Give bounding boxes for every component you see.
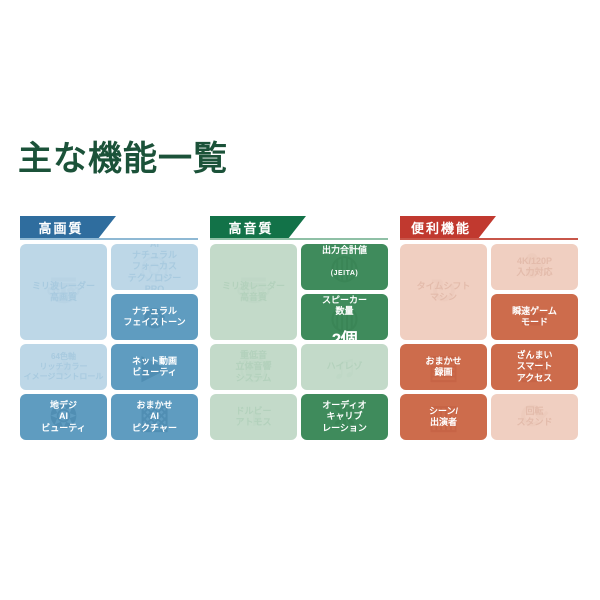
feature-row: ◑ ドルビー アトモス ❋ オーディオ キャリブ レーション (210, 394, 388, 440)
feature-cell-net-video-beauty[interactable]: ▶ ネット動画 ビューティ (111, 344, 198, 390)
feature-cell-group-left: ↻ タイムシフト マシン (400, 244, 487, 340)
feature-grid: 高画質 〠 ミリ波レーダー 高画質 ◎ AI ナチュラル フォーカス テクノロジ… (20, 216, 580, 444)
feature-cell-natural-facetone[interactable]: ☻ ナチュラル フェイストーン (111, 294, 198, 340)
speaker-count-label: スピーカー 数量 (322, 295, 367, 316)
column-header-convenience: 便利機能 (400, 216, 578, 240)
category-column-convenience: 便利機能 ↻ タイムシフト マシン ❥ 4K/120P 入力対応 ▰ 瞬速ゲーム… (400, 216, 578, 444)
category-rule (400, 238, 578, 240)
category-rule (20, 238, 198, 240)
feature-cell-group-right: ♫ ハイレゾ (301, 344, 388, 390)
category-column-sound-quality: 高音質 〠 ミリ波レーダー 高音質 ◍ 実用最大 出力合計値 (JEITA) 2… (210, 216, 388, 444)
feature-cell-group-left: ❂ 地デジ AI ビューティ (20, 394, 107, 440)
feature-cell-group-left: ▤ おまかせ 録画 (400, 344, 487, 390)
feature-cell-millimeter-wave-radar-sound[interactable]: 〠 ミリ波レーダー 高音質 (210, 244, 297, 340)
column-header-picture-quality: 高画質 (20, 216, 198, 240)
feature-cell-group-right: ❥ 4K/120P 入力対応 ▰ 瞬速ゲーム モード (491, 244, 578, 340)
feature-cell-64-axis-rich-color[interactable]: ◕ 64色軸 リッチカラー イメージコントロール (20, 344, 107, 390)
feature-cell-digital-terrestrial-ai-beauty[interactable]: ❂ 地デジ AI ビューティ (20, 394, 107, 440)
feature-row: ◉ 重低音 立体音響 システム ♫ ハイレゾ (210, 344, 388, 390)
feature-cell-millimeter-wave-radar-picture[interactable]: 〠 ミリ波レーダー 高画質 (20, 244, 107, 340)
feature-cell-zanmai-smart-access[interactable]: ▦ ざんまい スマート アクセス (491, 344, 578, 390)
feature-cell-instant-game-mode[interactable]: ▰ 瞬速ゲーム モード (491, 294, 578, 340)
feature-row: ▥ シーン/ 出演者 ⟳ 回転 スタンド (400, 394, 578, 440)
category-tab-sound-quality[interactable]: 高音質 (210, 216, 306, 238)
feature-cell-group-left: 〠 ミリ波レーダー 高画質 (20, 244, 107, 340)
feature-cell-group-right: ◍ 実用最大 出力合計値 (JEITA) 20W ◍ スピーカー 数量 2個 (301, 244, 388, 340)
feature-cell-scene-cast[interactable]: ▥ シーン/ 出演者 (400, 394, 487, 440)
feature-cell-group-right: ▶ ネット動画 ビューティ (111, 344, 198, 390)
feature-cell-deep-bass-3d-sound-system[interactable]: ◉ 重低音 立体音響 システム (210, 344, 297, 390)
feature-cell-group-right: ❋ オーディオ キャリブ レーション (301, 394, 388, 440)
feature-row: 〠 ミリ波レーダー 高画質 ◎ AI ナチュラル フォーカス テクノロジー PR… (20, 244, 198, 340)
feature-cell-group-left: ◕ 64色軸 リッチカラー イメージコントロール (20, 344, 107, 390)
feature-cell-4k-120p-input[interactable]: ❥ 4K/120P 入力対応 (491, 244, 578, 290)
feature-cell-group-left: ◑ ドルビー アトモス (210, 394, 297, 440)
category-tab-picture-quality[interactable]: 高画質 (20, 216, 116, 238)
feature-cell-group-left: ▥ シーン/ 出演者 (400, 394, 487, 440)
column-header-sound-quality: 高音質 (210, 216, 388, 240)
feature-cell-dolby-atmos[interactable]: ◑ ドルビー アトモス (210, 394, 297, 440)
feature-row: ❂ 地デジ AI ビューティ ▩ おまかせ AI ピクチャー (20, 394, 198, 440)
feature-cell-audio-calibration[interactable]: ❋ オーディオ キャリブ レーション (301, 394, 388, 440)
page-title: 主な機能一覧 (18, 142, 228, 176)
max-output-standard: (JEITA) (331, 270, 358, 277)
category-rule (210, 238, 388, 240)
max-output-label: 実用最大 出力合計値 (322, 244, 367, 255)
feature-row: ↻ タイムシフト マシン ❥ 4K/120P 入力対応 ▰ 瞬速ゲーム モード (400, 244, 578, 340)
feature-cell-group-right: ▩ おまかせ AI ピクチャー (111, 394, 198, 440)
feature-cell-ai-natural-focus-pro[interactable]: ◎ AI ナチュラル フォーカス テクノロジー PRO (111, 244, 198, 290)
feature-cell-group-left: ◉ 重低音 立体音響 システム (210, 344, 297, 390)
category-column-picture-quality: 高画質 〠 ミリ波レーダー 高画質 ◎ AI ナチュラル フォーカス テクノロジ… (20, 216, 198, 444)
feature-cell-group-right: ◎ AI ナチュラル フォーカス テクノロジー PRO ☻ ナチュラル フェイス… (111, 244, 198, 340)
feature-cell-auto-ai-picture[interactable]: ▩ おまかせ AI ピクチャー (111, 394, 198, 440)
feature-cell-time-shift-machine[interactable]: ↻ タイムシフト マシン (400, 244, 487, 340)
feature-cell-group-left: 〠 ミリ波レーダー 高音質 (210, 244, 297, 340)
feature-cell-auto-recording[interactable]: ▤ おまかせ 録画 (400, 344, 487, 390)
feature-cell-group-right: ▦ ざんまい スマート アクセス (491, 344, 578, 390)
feature-row: 〠 ミリ波レーダー 高音質 ◍ 実用最大 出力合計値 (JEITA) 20W ◍ (210, 244, 388, 340)
feature-row: ▤ おまかせ 録画 ▦ ざんまい スマート アクセス (400, 344, 578, 390)
speaker-count-value: 2個 (332, 330, 357, 340)
feature-cell-max-practical-output[interactable]: ◍ 実用最大 出力合計値 (JEITA) 20W (301, 244, 388, 290)
feature-cell-group-right: ⟳ 回転 スタンド (491, 394, 578, 440)
category-tab-convenience[interactable]: 便利機能 (400, 216, 496, 238)
feature-cell-rotating-stand[interactable]: ⟳ 回転 スタンド (491, 394, 578, 440)
feature-cell-hi-res[interactable]: ♫ ハイレゾ (301, 344, 388, 390)
feature-cell-speaker-count[interactable]: ◍ スピーカー 数量 2個 (301, 294, 388, 340)
feature-row: ◕ 64色軸 リッチカラー イメージコントロール ▶ ネット動画 ビューティ (20, 344, 198, 390)
